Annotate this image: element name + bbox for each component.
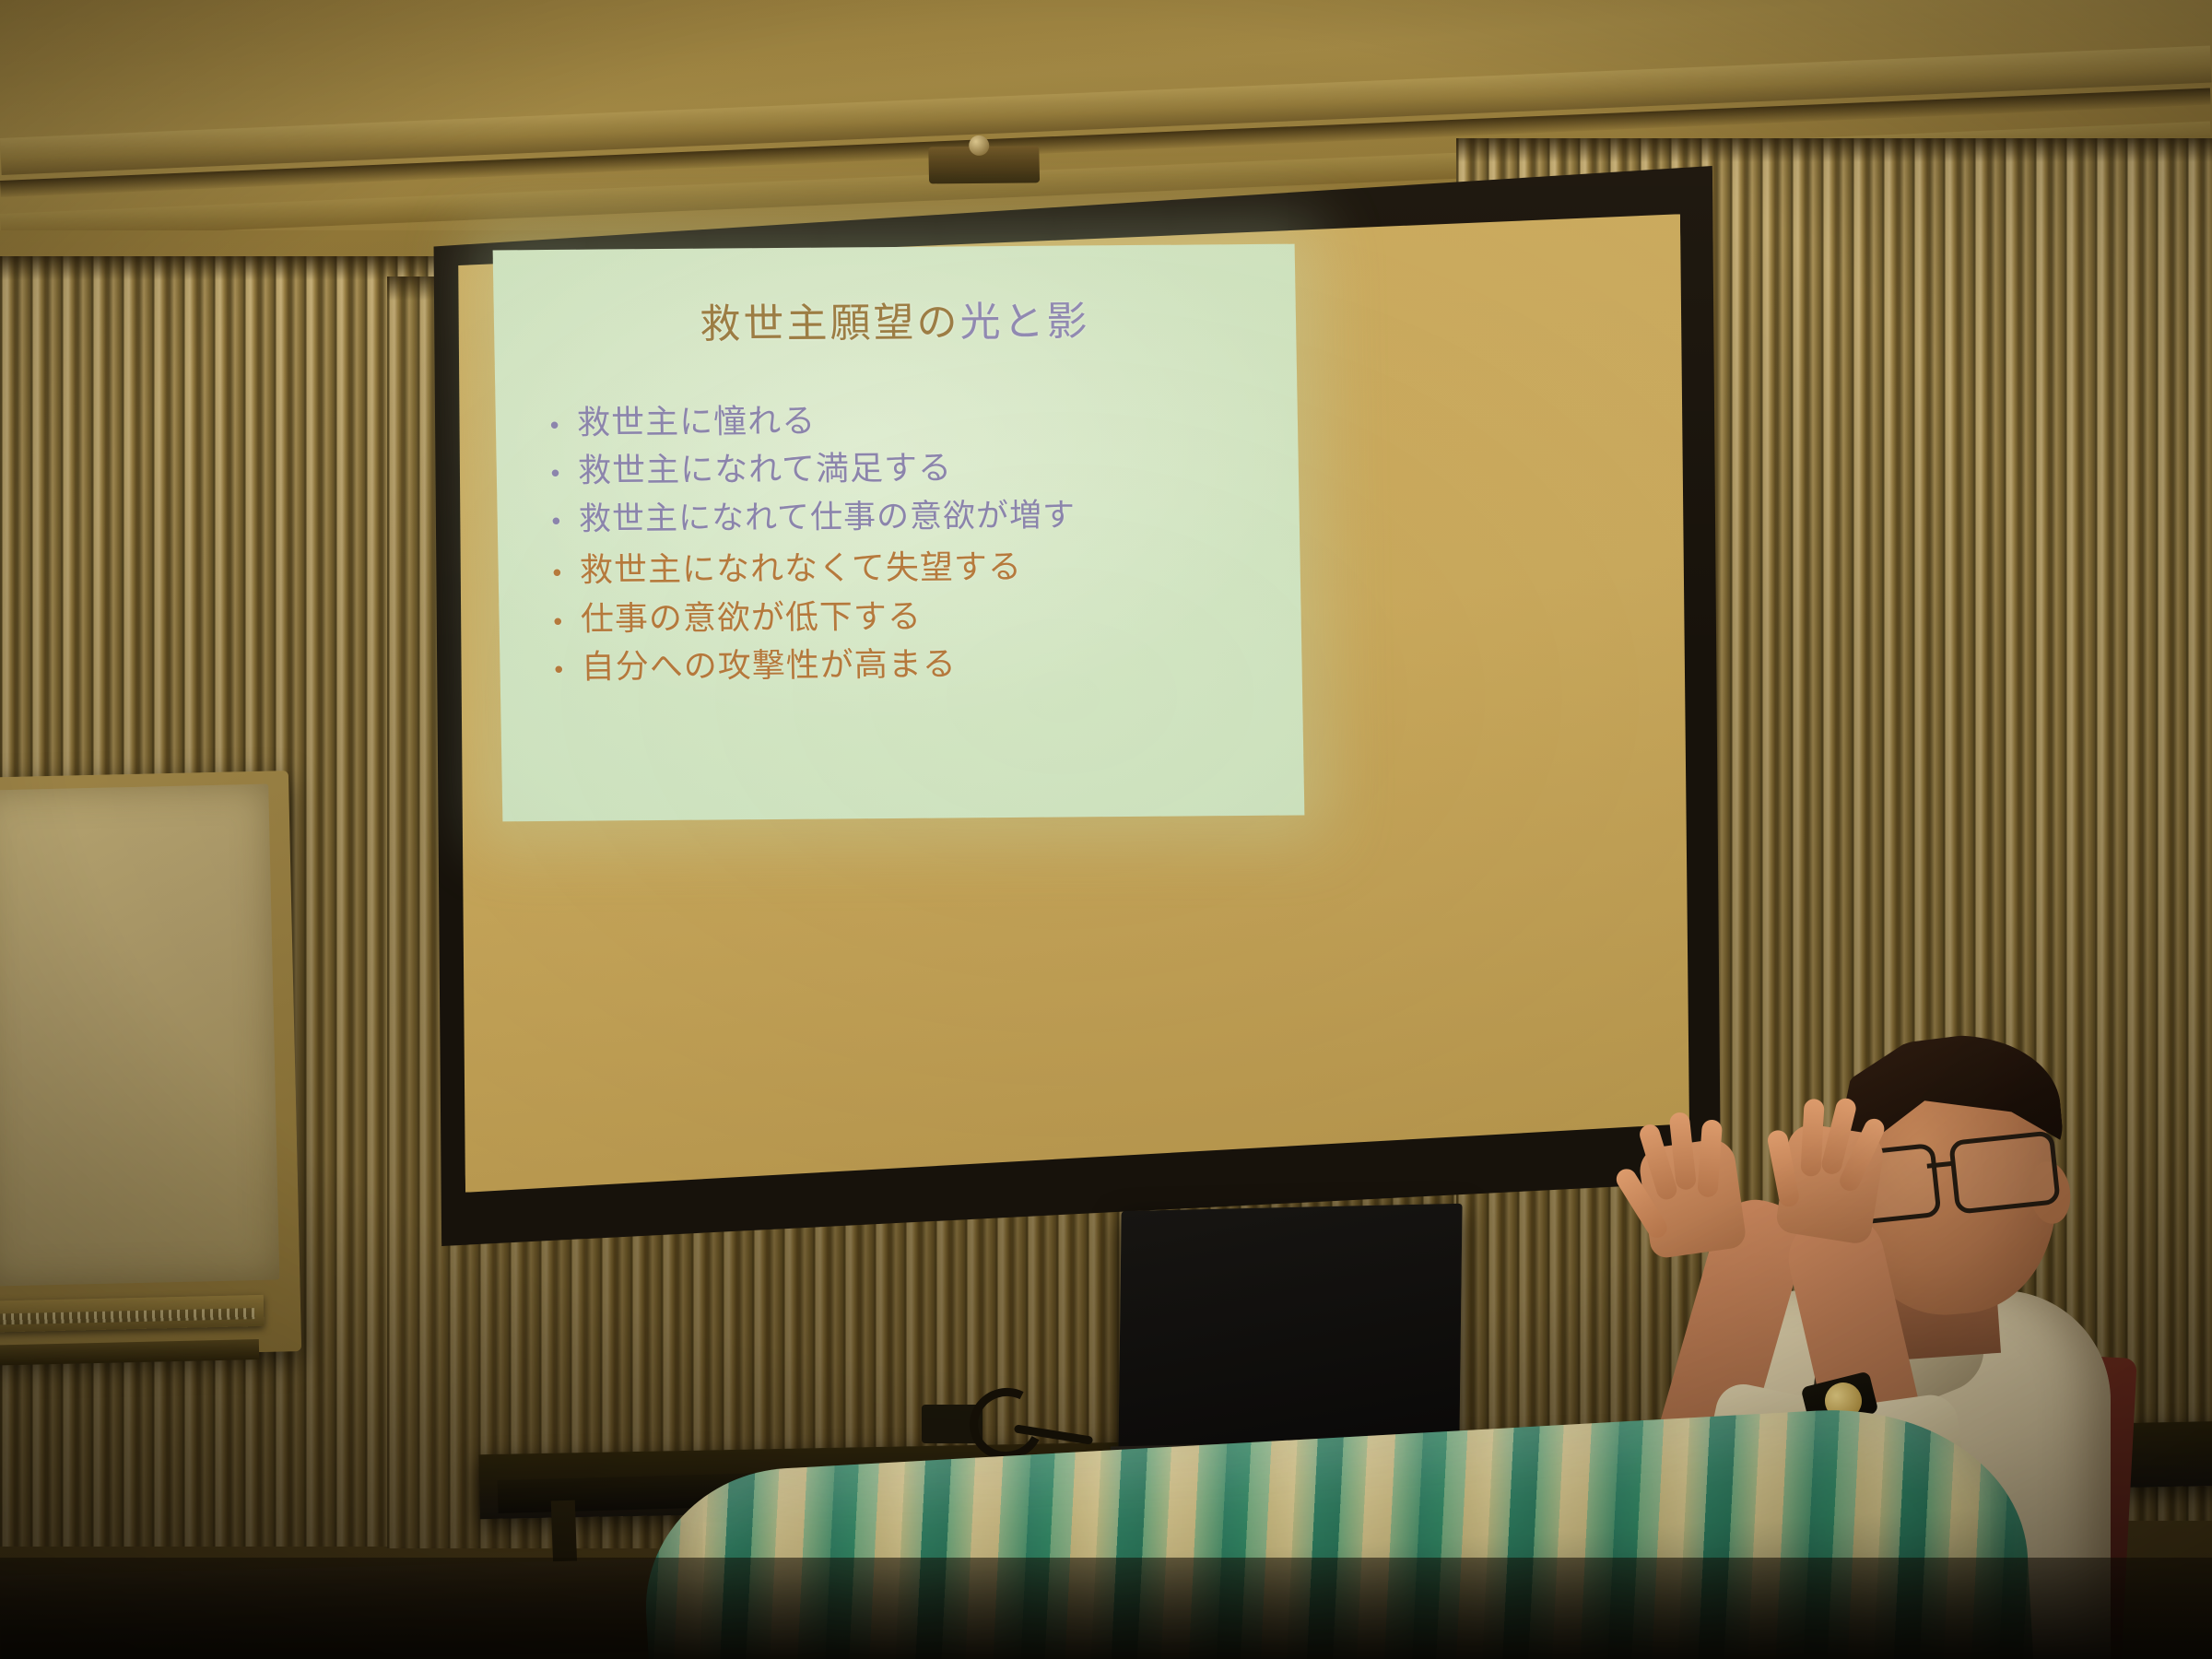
slide-title-main: 救世主願望の — [700, 299, 960, 347]
bullet-marker-icon: • — [550, 562, 566, 586]
list-item: • 自分への攻撃性が高まる — [551, 643, 1286, 688]
list-item: • 救世主になれて満足する — [547, 447, 1282, 492]
projected-slide: 救世主願望の光と影 • 救世主に憧れる • 救世主になれて満足する • 救世主に… — [493, 244, 1305, 822]
finger — [1766, 1128, 1801, 1208]
foreground-shadow — [0, 1558, 2212, 1659]
bullet-marker-icon: • — [550, 611, 566, 635]
slide-bullet-list: • 救世主に憧れる • 救世主になれて満足する • 救世主になれて仕事の意欲が増… — [547, 399, 1287, 698]
laptop — [1118, 1204, 1462, 1456]
bullet-text: 救世主に憧れる — [577, 403, 817, 443]
glasses-lens-right — [1948, 1130, 2061, 1214]
bullet-marker-icon: • — [549, 511, 565, 535]
presenter-left-hand — [1637, 1136, 1747, 1259]
screen-mount-knob — [969, 135, 989, 156]
presenter-right-hand — [1774, 1122, 1886, 1246]
bullet-marker-icon: • — [547, 415, 563, 439]
slide-title-accent: 光と影 — [959, 298, 1090, 346]
list-item: • 仕事の意欲が低下する — [550, 594, 1285, 640]
whiteboard — [0, 771, 301, 1359]
whiteboard-surface — [0, 784, 279, 1287]
list-item: • 救世主になれなくて失望する — [549, 547, 1284, 592]
slide-title: 救世主願望の光と影 — [493, 287, 1296, 352]
bullet-text: 救世主になれて満足する — [578, 450, 953, 492]
bullet-text: 仕事の意欲が低下する — [581, 598, 923, 640]
bullet-text: 救世主になれて仕事の意欲が増す — [579, 497, 1077, 539]
cables — [912, 1382, 1078, 1456]
curtain-hem — [1456, 138, 2212, 162]
bullet-text: 救世主になれなくて失望する — [580, 548, 1023, 591]
bullet-marker-icon: • — [548, 463, 564, 487]
bullet-marker-icon: • — [551, 659, 567, 683]
bullet-text: 自分への攻撃性が高まる — [581, 646, 957, 688]
list-item: • 救世主に憧れる — [547, 399, 1282, 444]
photo-scene: 救世主願望の光と影 • 救世主に憧れる • 救世主になれて満足する • 救世主に… — [0, 0, 2212, 1659]
list-item: • 救世主になれて仕事の意欲が増す — [548, 496, 1283, 540]
finger — [1697, 1119, 1723, 1197]
